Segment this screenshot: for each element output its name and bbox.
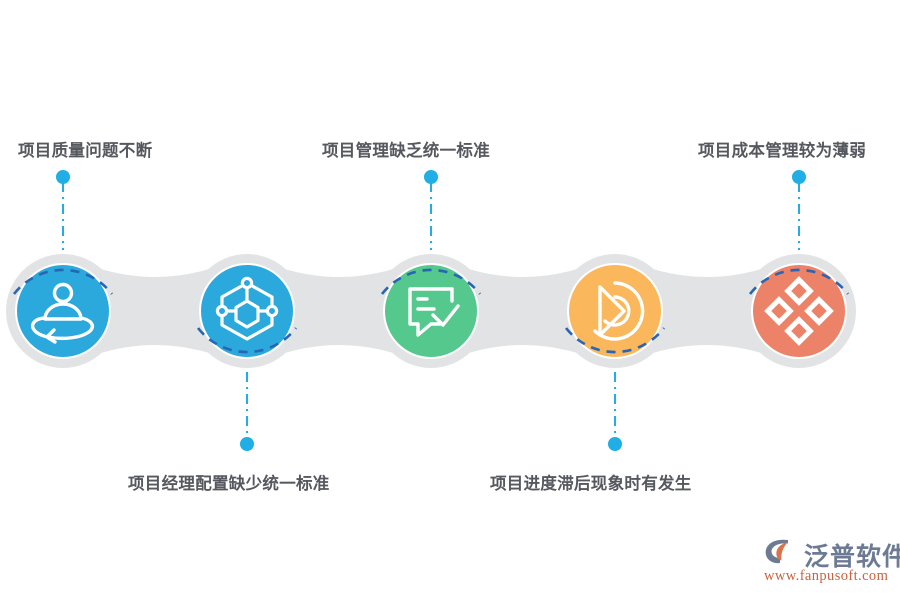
label-standard: 项目管理缺乏统一标准	[322, 137, 490, 161]
company-logo[interactable]: 泛普软件 www.fanpusoft.com	[760, 535, 892, 593]
logo-website-url: www.fanpusoft.com	[764, 568, 888, 585]
label-schedule: 项目进度滞后现象时有发生	[490, 470, 692, 494]
leader-dot-standard	[424, 170, 438, 184]
label-cost: 项目成本管理较为薄弱	[698, 137, 866, 161]
fanpu-logo-mark	[762, 536, 802, 566]
leader-dot-manager	[240, 437, 254, 451]
infographic-canvas: 项目质量问题不断 项目经理配置缺少统一标准 项目管理缺乏统一标准 项目进度滞后现…	[0, 0, 900, 600]
leader-dot-cost	[792, 170, 806, 184]
leader-dot-quality	[56, 170, 70, 184]
label-manager: 项目经理配置缺少统一标准	[128, 470, 330, 494]
leader-dot-schedule	[608, 437, 622, 451]
node-chain-graphic	[0, 0, 900, 600]
label-quality: 项目质量问题不断	[18, 137, 152, 161]
